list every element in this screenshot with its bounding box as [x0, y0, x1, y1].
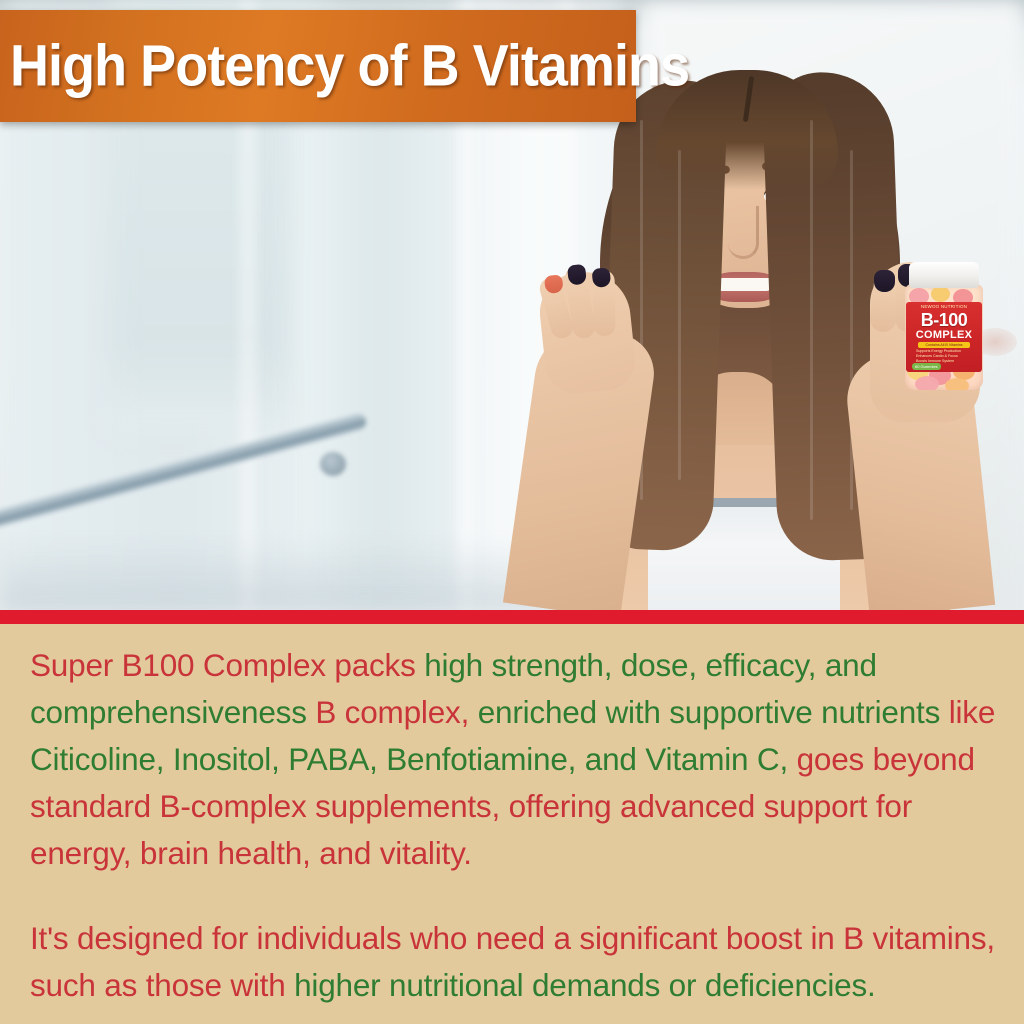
product-bottle: NEWOO NUTRITION B-100 COMPLEX Contains A… [905, 262, 983, 390]
bottle-count-badge: 60 Gummies [912, 363, 941, 370]
text-segment-green: Citicoline, Inositol, PABA, Benfotiamine… [30, 741, 797, 777]
bottle-tagline: Contains All B Vitamins [918, 342, 970, 348]
hair-highlight [810, 120, 813, 520]
bottle-product-name: B-100 [906, 311, 982, 329]
text-segment-green: higher nutritional demands or deficienci… [294, 967, 876, 1003]
paragraph-1: Super B100 Complex packs high strength, … [30, 642, 996, 877]
bottle-bullets: Supports Energy Production Enhances Card… [916, 349, 976, 364]
text-segment-red: like [949, 694, 995, 730]
gummy [945, 378, 969, 390]
bottle-cap [909, 262, 979, 288]
bottle-label: NEWOO NUTRITION B-100 COMPLEX Contains A… [906, 302, 982, 372]
description-panel: Super B100 Complex packs high strength, … [0, 624, 1024, 1024]
hair-highlight [678, 150, 681, 480]
nose [728, 206, 759, 259]
product-infographic: NEWOO NUTRITION B-100 COMPLEX Contains A… [0, 0, 1024, 1024]
bottle-product-subtitle: COMPLEX [906, 329, 982, 341]
text-segment-green: enriched with supportive nutrients [478, 694, 949, 730]
fingernail-dark [874, 270, 895, 292]
red-divider [0, 610, 1024, 624]
ballet-barre-end [320, 452, 346, 476]
headline-banner: High Potency of B Vitamins [0, 10, 636, 122]
headline-text: High Potency of B Vitamins [10, 33, 689, 100]
text-segment-red: Super B100 Complex packs [30, 647, 424, 683]
gummy [931, 286, 950, 302]
gummy [915, 376, 939, 390]
bottle-brand: NEWOO NUTRITION [906, 304, 982, 309]
paragraph-2: It's designed for individuals who need a… [30, 915, 996, 1009]
teeth [714, 278, 774, 291]
text-segment-red: B complex, [315, 694, 477, 730]
